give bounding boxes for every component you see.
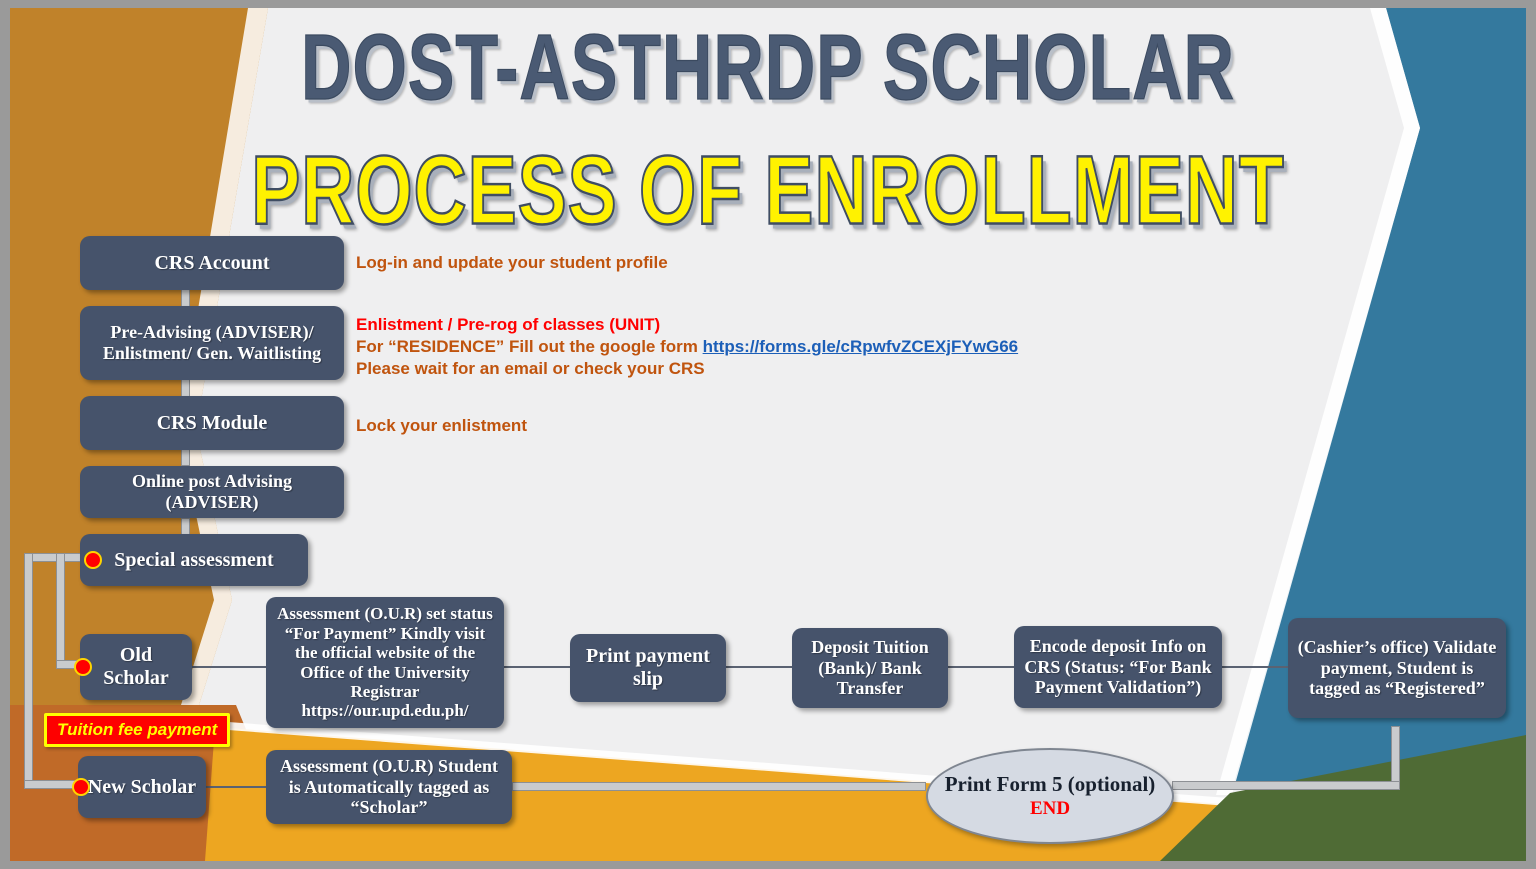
connector-old-scholar-to-assessment: [190, 666, 270, 668]
process-box-label: CRS Account: [154, 252, 269, 275]
process-box-online-post-advising[interactable]: Online post Advising (ADVISER): [80, 466, 344, 518]
process-box-label: Print payment slip: [578, 645, 718, 691]
process-box-new-scholar[interactable]: New Scholar: [78, 756, 206, 818]
process-box-cashier-validate[interactable]: (Cashier’s office) Validate payment, Stu…: [1288, 618, 1506, 718]
process-box-label: (Cashier’s office) Validate payment, Stu…: [1296, 637, 1498, 699]
process-box-crs-module[interactable]: CRS Module: [80, 396, 344, 450]
connector-new-scholar-to-assessment-scholar: [204, 786, 268, 788]
process-box-assessment-our-scholar[interactable]: Assessment (O.U.R) Student is Automatica…: [266, 750, 512, 824]
note-line-enlistment: Enlistment / Pre-rog of classes (UNIT): [356, 314, 1018, 336]
process-box-special-assessment[interactable]: Special assessment: [80, 534, 308, 586]
node-dot-special-assessment: [84, 551, 102, 569]
node-dot-new-scholar: [72, 778, 90, 796]
connector-branch-new-scholar-vertical: [24, 553, 33, 788]
process-box-old-scholar[interactable]: Old Scholar: [80, 634, 192, 700]
connector-assessment-to-print-slip: [504, 666, 572, 668]
node-dot-old-scholar: [74, 658, 92, 676]
process-box-label: CRS Module: [157, 412, 268, 435]
connector-encode-to-cashier: [1222, 666, 1290, 668]
note-text: Log-in and update your student profile: [356, 253, 668, 272]
process-box-print-payment-slip[interactable]: Print payment slip: [570, 634, 726, 702]
connector-print-slip-to-deposit: [726, 666, 794, 668]
process-box-crs-account[interactable]: CRS Account: [80, 236, 344, 290]
note-crs-module: Lock your enlistment: [356, 415, 527, 437]
connector-assessment-scholar-to-print-form5: [512, 782, 926, 791]
process-box-label: Special assessment: [114, 549, 273, 572]
process-box-assessment-our-payment[interactable]: Assessment (O.U.R) set status “For Payme…: [266, 597, 504, 728]
process-box-label: Old Scholar: [88, 644, 184, 690]
process-box-label: Assessment (O.U.R) set status “For Payme…: [274, 604, 496, 720]
connector-crs-module-to-online-post-advising: [181, 448, 190, 466]
process-box-label: Assessment (O.U.R) Student is Automatica…: [274, 756, 504, 818]
tuition-fee-payment-label: Tuition fee payment: [57, 720, 217, 739]
note-crs-account: Log-in and update your student profile: [356, 252, 668, 274]
note-text: Lock your enlistment: [356, 416, 527, 435]
end-node-label: Print Form 5 (optional): [945, 772, 1156, 796]
google-form-link[interactable]: https://forms.gle/cRpwfvZCEXjFYwG66: [703, 337, 1019, 356]
note-line-residence: For “RESIDENCE” Fill out the google form…: [356, 336, 1018, 358]
process-box-label: Deposit Tuition (Bank)/ Bank Transfer: [800, 637, 940, 699]
note-text: For “RESIDENCE” Fill out the google form: [356, 337, 703, 356]
process-box-pre-advising[interactable]: Pre-Advising (ADVISER)/ Enlistment/ Gen.…: [80, 306, 344, 380]
connector-cashier-to-print-form5: [1172, 781, 1400, 790]
process-box-label: New Scholar: [88, 776, 196, 799]
process-box-encode-deposit[interactable]: Encode deposit Info on CRS (Status: “For…: [1014, 626, 1222, 708]
connector-deposit-to-encode: [947, 666, 1017, 668]
connector-cashier-down: [1391, 726, 1400, 786]
connector-branch-old-scholar-vertical: [56, 553, 65, 668]
end-node-end-label: END: [1030, 798, 1070, 820]
note-line-wait: Please wait for an email or check your C…: [356, 358, 1018, 380]
process-box-label: Encode deposit Info on CRS (Status: “For…: [1022, 636, 1214, 698]
connector-crs-account-to-pre-advising: [181, 288, 190, 308]
process-box-label: Pre-Advising (ADVISER)/ Enlistment/ Gen.…: [88, 322, 336, 363]
end-node-print-form-5[interactable]: Print Form 5 (optional) END: [926, 748, 1174, 844]
tuition-fee-payment-badge: Tuition fee payment: [44, 713, 230, 747]
process-box-deposit-tuition[interactable]: Deposit Tuition (Bank)/ Bank Transfer: [792, 628, 948, 708]
slide-canvas: DOST-ASTHRDP SCHOLAR PROCESS OF ENROLLME…: [0, 0, 1536, 869]
connector-pre-advising-to-crs-module: [181, 378, 190, 398]
note-pre-advising: Enlistment / Pre-rog of classes (UNIT) F…: [356, 314, 1018, 379]
process-box-label: Online post Advising (ADVISER): [88, 471, 336, 512]
